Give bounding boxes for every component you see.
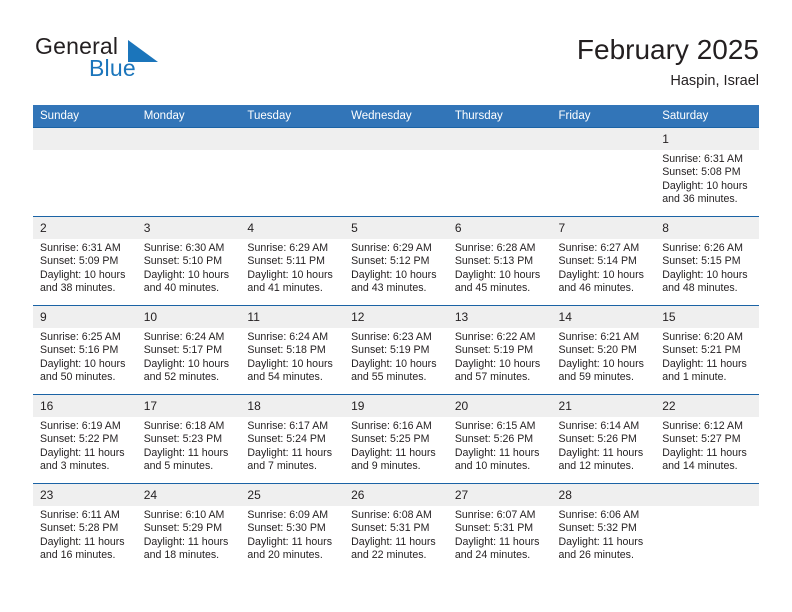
daylight-text-line2: and 24 minutes.: [455, 549, 546, 562]
day-details: Sunrise: 6:23 AMSunset: 5:19 PMDaylight:…: [344, 328, 448, 385]
daylight-text-line1: Daylight: 11 hours: [455, 536, 546, 549]
daylight-text-line1: Daylight: 10 hours: [662, 180, 753, 193]
sunset-text: Sunset: 5:19 PM: [455, 344, 546, 357]
day-number: 9: [33, 306, 137, 328]
daylight-text-line2: and 38 minutes.: [40, 282, 131, 295]
logo-text-blue: Blue: [89, 55, 136, 82]
day-number: 28: [552, 484, 656, 506]
sunrise-text: Sunrise: 6:29 AM: [247, 242, 338, 255]
daylight-text-line2: and 43 minutes.: [351, 282, 442, 295]
sunrise-text: Sunrise: 6:07 AM: [455, 509, 546, 522]
sunset-text: Sunset: 5:26 PM: [559, 433, 650, 446]
day-details: Sunrise: 6:24 AMSunset: 5:18 PMDaylight:…: [240, 328, 344, 385]
day-details: Sunrise: 6:06 AMSunset: 5:32 PMDaylight:…: [552, 506, 656, 563]
sunset-text: Sunset: 5:26 PM: [455, 433, 546, 446]
daylight-text-line2: and 45 minutes.: [455, 282, 546, 295]
day-details: Sunrise: 6:28 AMSunset: 5:13 PMDaylight:…: [448, 239, 552, 296]
calendar-cell-empty: [655, 484, 759, 573]
daylight-text-line2: and 22 minutes.: [351, 549, 442, 562]
sunrise-text: Sunrise: 6:11 AM: [40, 509, 131, 522]
sunrise-text: Sunrise: 6:10 AM: [144, 509, 235, 522]
day-number: 8: [655, 217, 759, 239]
day-details: Sunrise: 6:30 AMSunset: 5:10 PMDaylight:…: [137, 239, 241, 296]
calendar-week-row: 16Sunrise: 6:19 AMSunset: 5:22 PMDayligh…: [33, 395, 759, 484]
daylight-text-line2: and 41 minutes.: [247, 282, 338, 295]
day-details: Sunrise: 6:26 AMSunset: 5:15 PMDaylight:…: [655, 239, 759, 296]
day-number: 10: [137, 306, 241, 328]
daylight-text-line1: Daylight: 11 hours: [247, 536, 338, 549]
sunset-text: Sunset: 5:19 PM: [351, 344, 442, 357]
sunset-text: Sunset: 5:18 PM: [247, 344, 338, 357]
daylight-text-line2: and 7 minutes.: [247, 460, 338, 473]
daylight-text-line1: Daylight: 11 hours: [662, 358, 753, 371]
title-block: February 2025 Haspin, Israel: [577, 33, 759, 91]
sunset-text: Sunset: 5:22 PM: [40, 433, 131, 446]
sunset-text: Sunset: 5:21 PM: [662, 344, 753, 357]
calendar-day-cell[interactable]: 20Sunrise: 6:15 AMSunset: 5:26 PMDayligh…: [448, 395, 552, 484]
day-details: Sunrise: 6:09 AMSunset: 5:30 PMDaylight:…: [240, 506, 344, 563]
sunset-text: Sunset: 5:13 PM: [455, 255, 546, 268]
daylight-text-line1: Daylight: 11 hours: [559, 536, 650, 549]
calendar-day-cell[interactable]: 25Sunrise: 6:09 AMSunset: 5:30 PMDayligh…: [240, 484, 344, 573]
day-details: Sunrise: 6:22 AMSunset: 5:19 PMDaylight:…: [448, 328, 552, 385]
sunset-text: Sunset: 5:31 PM: [351, 522, 442, 535]
sunrise-text: Sunrise: 6:19 AM: [40, 420, 131, 433]
calendar-day-cell[interactable]: 17Sunrise: 6:18 AMSunset: 5:23 PMDayligh…: [137, 395, 241, 484]
day-number: 6: [448, 217, 552, 239]
daylight-text-line1: Daylight: 10 hours: [40, 358, 131, 371]
calendar-week-row: 23Sunrise: 6:11 AMSunset: 5:28 PMDayligh…: [33, 484, 759, 573]
calendar-cell-empty: [137, 128, 241, 217]
day-number: 11: [240, 306, 344, 328]
day-number: 15: [655, 306, 759, 328]
day-number: 21: [552, 395, 656, 417]
calendar-day-cell[interactable]: 12Sunrise: 6:23 AMSunset: 5:19 PMDayligh…: [344, 306, 448, 395]
calendar-day-cell[interactable]: 3Sunrise: 6:30 AMSunset: 5:10 PMDaylight…: [137, 217, 241, 306]
day-details: Sunrise: 6:29 AMSunset: 5:12 PMDaylight:…: [344, 239, 448, 296]
calendar-table: Sunday Monday Tuesday Wednesday Thursday…: [33, 105, 759, 572]
day-number: 19: [344, 395, 448, 417]
calendar-day-cell[interactable]: 22Sunrise: 6:12 AMSunset: 5:27 PMDayligh…: [655, 395, 759, 484]
daylight-text-line2: and 46 minutes.: [559, 282, 650, 295]
day-number: [552, 128, 656, 150]
calendar-day-cell[interactable]: 27Sunrise: 6:07 AMSunset: 5:31 PMDayligh…: [448, 484, 552, 573]
calendar-day-cell[interactable]: 2Sunrise: 6:31 AMSunset: 5:09 PMDaylight…: [33, 217, 137, 306]
daylight-text-line1: Daylight: 11 hours: [144, 536, 235, 549]
day-details: Sunrise: 6:29 AMSunset: 5:11 PMDaylight:…: [240, 239, 344, 296]
sunset-text: Sunset: 5:32 PM: [559, 522, 650, 535]
calendar-day-cell[interactable]: 8Sunrise: 6:26 AMSunset: 5:15 PMDaylight…: [655, 217, 759, 306]
calendar-cell-empty: [448, 128, 552, 217]
day-details: Sunrise: 6:08 AMSunset: 5:31 PMDaylight:…: [344, 506, 448, 563]
calendar-week-row: 1Sunrise: 6:31 AMSunset: 5:08 PMDaylight…: [33, 128, 759, 217]
calendar-day-cell[interactable]: 6Sunrise: 6:28 AMSunset: 5:13 PMDaylight…: [448, 217, 552, 306]
day-details: Sunrise: 6:07 AMSunset: 5:31 PMDaylight:…: [448, 506, 552, 563]
calendar-day-cell[interactable]: 13Sunrise: 6:22 AMSunset: 5:19 PMDayligh…: [448, 306, 552, 395]
calendar-day-cell[interactable]: 9Sunrise: 6:25 AMSunset: 5:16 PMDaylight…: [33, 306, 137, 395]
daylight-text-line2: and 16 minutes.: [40, 549, 131, 562]
daylight-text-line1: Daylight: 10 hours: [144, 269, 235, 282]
daylight-text-line2: and 36 minutes.: [662, 193, 753, 206]
day-number: [448, 128, 552, 150]
day-number: [137, 128, 241, 150]
daylight-text-line1: Daylight: 10 hours: [247, 358, 338, 371]
calendar-header-row: Sunday Monday Tuesday Wednesday Thursday…: [33, 105, 759, 128]
day-details: Sunrise: 6:18 AMSunset: 5:23 PMDaylight:…: [137, 417, 241, 474]
day-number: 20: [448, 395, 552, 417]
day-details: Sunrise: 6:21 AMSunset: 5:20 PMDaylight:…: [552, 328, 656, 385]
sunset-text: Sunset: 5:16 PM: [40, 344, 131, 357]
day-details: Sunrise: 6:12 AMSunset: 5:27 PMDaylight:…: [655, 417, 759, 474]
calendar-page: General Blue February 2025 Haspin, Israe…: [0, 0, 792, 612]
day-number: 17: [137, 395, 241, 417]
daylight-text-line2: and 57 minutes.: [455, 371, 546, 384]
day-details: Sunrise: 6:27 AMSunset: 5:14 PMDaylight:…: [552, 239, 656, 296]
daylight-text-line2: and 48 minutes.: [662, 282, 753, 295]
sunset-text: Sunset: 5:08 PM: [662, 166, 753, 179]
page-title: February 2025: [577, 33, 759, 67]
day-number: 2: [33, 217, 137, 239]
calendar-day-cell[interactable]: 11Sunrise: 6:24 AMSunset: 5:18 PMDayligh…: [240, 306, 344, 395]
daylight-text-line2: and 50 minutes.: [40, 371, 131, 384]
daylight-text-line1: Daylight: 10 hours: [662, 269, 753, 282]
daylight-text-line1: Daylight: 10 hours: [559, 269, 650, 282]
sunrise-text: Sunrise: 6:24 AM: [247, 331, 338, 344]
calendar-day-cell[interactable]: 19Sunrise: 6:16 AMSunset: 5:25 PMDayligh…: [344, 395, 448, 484]
day-number: 1: [655, 128, 759, 150]
day-details: Sunrise: 6:24 AMSunset: 5:17 PMDaylight:…: [137, 328, 241, 385]
sunrise-text: Sunrise: 6:06 AM: [559, 509, 650, 522]
sunrise-text: Sunrise: 6:26 AM: [662, 242, 753, 255]
calendar-cell-empty: [33, 128, 137, 217]
daylight-text-line1: Daylight: 10 hours: [455, 269, 546, 282]
weekday-header-sunday: Sunday: [33, 105, 137, 128]
general-blue-logo[interactable]: General Blue: [33, 33, 233, 89]
daylight-text-line1: Daylight: 11 hours: [455, 447, 546, 460]
sunset-text: Sunset: 5:14 PM: [559, 255, 650, 268]
daylight-text-line1: Daylight: 10 hours: [247, 269, 338, 282]
sunrise-text: Sunrise: 6:30 AM: [144, 242, 235, 255]
sunrise-text: Sunrise: 6:20 AM: [662, 331, 753, 344]
calendar-day-cell[interactable]: 24Sunrise: 6:10 AMSunset: 5:29 PMDayligh…: [137, 484, 241, 573]
sunrise-text: Sunrise: 6:15 AM: [455, 420, 546, 433]
day-number: 22: [655, 395, 759, 417]
day-number: 3: [137, 217, 241, 239]
daylight-text-line1: Daylight: 11 hours: [662, 447, 753, 460]
daylight-text-line1: Daylight: 11 hours: [351, 447, 442, 460]
daylight-text-line1: Daylight: 11 hours: [351, 536, 442, 549]
day-number: 18: [240, 395, 344, 417]
sunset-text: Sunset: 5:20 PM: [559, 344, 650, 357]
day-number: 5: [344, 217, 448, 239]
weekday-header-row: Sunday Monday Tuesday Wednesday Thursday…: [33, 105, 759, 128]
location-subtitle: Haspin, Israel: [577, 71, 759, 91]
daylight-text-line2: and 26 minutes.: [559, 549, 650, 562]
calendar-body: 1Sunrise: 6:31 AMSunset: 5:08 PMDaylight…: [33, 128, 759, 573]
day-number: 25: [240, 484, 344, 506]
calendar-day-cell[interactable]: 26Sunrise: 6:08 AMSunset: 5:31 PMDayligh…: [344, 484, 448, 573]
calendar-day-cell[interactable]: 28Sunrise: 6:06 AMSunset: 5:32 PMDayligh…: [552, 484, 656, 573]
day-details: Sunrise: 6:10 AMSunset: 5:29 PMDaylight:…: [137, 506, 241, 563]
day-details: Sunrise: 6:15 AMSunset: 5:26 PMDaylight:…: [448, 417, 552, 474]
daylight-text-line2: and 14 minutes.: [662, 460, 753, 473]
calendar-cell-empty: [240, 128, 344, 217]
day-number: [344, 128, 448, 150]
calendar-day-cell[interactable]: 23Sunrise: 6:11 AMSunset: 5:28 PMDayligh…: [33, 484, 137, 573]
sunrise-text: Sunrise: 6:17 AM: [247, 420, 338, 433]
sunset-text: Sunset: 5:29 PM: [144, 522, 235, 535]
sunset-text: Sunset: 5:24 PM: [247, 433, 338, 446]
weekday-header-friday: Friday: [552, 105, 656, 128]
daylight-text-line2: and 10 minutes.: [455, 460, 546, 473]
page-header: General Blue February 2025 Haspin, Israe…: [33, 33, 759, 95]
sunrise-text: Sunrise: 6:31 AM: [662, 153, 753, 166]
day-details: Sunrise: 6:25 AMSunset: 5:16 PMDaylight:…: [33, 328, 137, 385]
sunset-text: Sunset: 5:10 PM: [144, 255, 235, 268]
calendar-day-cell[interactable]: 15Sunrise: 6:20 AMSunset: 5:21 PMDayligh…: [655, 306, 759, 395]
daylight-text-line1: Daylight: 11 hours: [40, 536, 131, 549]
day-details: Sunrise: 6:31 AMSunset: 5:09 PMDaylight:…: [33, 239, 137, 296]
weekday-header-tuesday: Tuesday: [240, 105, 344, 128]
day-number: 23: [33, 484, 137, 506]
sunrise-text: Sunrise: 6:12 AM: [662, 420, 753, 433]
calendar-week-row: 9Sunrise: 6:25 AMSunset: 5:16 PMDaylight…: [33, 306, 759, 395]
sunset-text: Sunset: 5:25 PM: [351, 433, 442, 446]
daylight-text-line1: Daylight: 10 hours: [559, 358, 650, 371]
day-number: 24: [137, 484, 241, 506]
calendar-week-row: 2Sunrise: 6:31 AMSunset: 5:09 PMDaylight…: [33, 217, 759, 306]
calendar-cell-empty: [552, 128, 656, 217]
day-number: 13: [448, 306, 552, 328]
daylight-text-line2: and 59 minutes.: [559, 371, 650, 384]
daylight-text-line2: and 1 minute.: [662, 371, 753, 384]
day-details: Sunrise: 6:16 AMSunset: 5:25 PMDaylight:…: [344, 417, 448, 474]
daylight-text-line2: and 54 minutes.: [247, 371, 338, 384]
daylight-text-line1: Daylight: 11 hours: [247, 447, 338, 460]
sunset-text: Sunset: 5:11 PM: [247, 255, 338, 268]
daylight-text-line1: Daylight: 11 hours: [144, 447, 235, 460]
calendar-day-cell[interactable]: 14Sunrise: 6:21 AMSunset: 5:20 PMDayligh…: [552, 306, 656, 395]
day-number: 16: [33, 395, 137, 417]
daylight-text-line1: Daylight: 11 hours: [40, 447, 131, 460]
daylight-text-line2: and 55 minutes.: [351, 371, 442, 384]
sunrise-text: Sunrise: 6:09 AM: [247, 509, 338, 522]
calendar-day-cell[interactable]: 16Sunrise: 6:19 AMSunset: 5:22 PMDayligh…: [33, 395, 137, 484]
weekday-header-wednesday: Wednesday: [344, 105, 448, 128]
calendar-cell-empty: [344, 128, 448, 217]
day-details: Sunrise: 6:20 AMSunset: 5:21 PMDaylight:…: [655, 328, 759, 385]
daylight-text-line2: and 40 minutes.: [144, 282, 235, 295]
daylight-text-line1: Daylight: 11 hours: [559, 447, 650, 460]
day-details: Sunrise: 6:31 AMSunset: 5:08 PMDaylight:…: [655, 150, 759, 207]
calendar-day-cell[interactable]: 10Sunrise: 6:24 AMSunset: 5:17 PMDayligh…: [137, 306, 241, 395]
day-number: [240, 128, 344, 150]
sunrise-text: Sunrise: 6:31 AM: [40, 242, 131, 255]
sunset-text: Sunset: 5:17 PM: [144, 344, 235, 357]
weekday-header-saturday: Saturday: [655, 105, 759, 128]
calendar-day-cell[interactable]: 4Sunrise: 6:29 AMSunset: 5:11 PMDaylight…: [240, 217, 344, 306]
sunrise-text: Sunrise: 6:22 AM: [455, 331, 546, 344]
sunrise-text: Sunrise: 6:25 AM: [40, 331, 131, 344]
day-number: 4: [240, 217, 344, 239]
day-number: 14: [552, 306, 656, 328]
sunrise-text: Sunrise: 6:29 AM: [351, 242, 442, 255]
day-details: Sunrise: 6:14 AMSunset: 5:26 PMDaylight:…: [552, 417, 656, 474]
sunrise-text: Sunrise: 6:28 AM: [455, 242, 546, 255]
daylight-text-line1: Daylight: 10 hours: [144, 358, 235, 371]
calendar-day-cell[interactable]: 7Sunrise: 6:27 AMSunset: 5:14 PMDaylight…: [552, 217, 656, 306]
day-number: 27: [448, 484, 552, 506]
weekday-header-thursday: Thursday: [448, 105, 552, 128]
daylight-text-line1: Daylight: 10 hours: [40, 269, 131, 282]
sunset-text: Sunset: 5:12 PM: [351, 255, 442, 268]
sunset-text: Sunset: 5:15 PM: [662, 255, 753, 268]
calendar-day-cell[interactable]: 18Sunrise: 6:17 AMSunset: 5:24 PMDayligh…: [240, 395, 344, 484]
day-number: 26: [344, 484, 448, 506]
sunset-text: Sunset: 5:31 PM: [455, 522, 546, 535]
sunset-text: Sunset: 5:27 PM: [662, 433, 753, 446]
calendar-day-cell[interactable]: 21Sunrise: 6:14 AMSunset: 5:26 PMDayligh…: [552, 395, 656, 484]
sunrise-text: Sunrise: 6:08 AM: [351, 509, 442, 522]
sunset-text: Sunset: 5:23 PM: [144, 433, 235, 446]
sunrise-text: Sunrise: 6:18 AM: [144, 420, 235, 433]
calendar-day-cell[interactable]: 5Sunrise: 6:29 AMSunset: 5:12 PMDaylight…: [344, 217, 448, 306]
daylight-text-line2: and 20 minutes.: [247, 549, 338, 562]
sunrise-text: Sunrise: 6:16 AM: [351, 420, 442, 433]
sunset-text: Sunset: 5:30 PM: [247, 522, 338, 535]
day-number: [33, 128, 137, 150]
day-details: Sunrise: 6:17 AMSunset: 5:24 PMDaylight:…: [240, 417, 344, 474]
daylight-text-line2: and 5 minutes.: [144, 460, 235, 473]
calendar-day-cell[interactable]: 1Sunrise: 6:31 AMSunset: 5:08 PMDaylight…: [655, 128, 759, 217]
daylight-text-line2: and 9 minutes.: [351, 460, 442, 473]
sunrise-text: Sunrise: 6:23 AM: [351, 331, 442, 344]
daylight-text-line2: and 52 minutes.: [144, 371, 235, 384]
daylight-text-line1: Daylight: 10 hours: [455, 358, 546, 371]
sunrise-text: Sunrise: 6:21 AM: [559, 331, 650, 344]
weekday-header-monday: Monday: [137, 105, 241, 128]
day-number: 12: [344, 306, 448, 328]
daylight-text-line1: Daylight: 10 hours: [351, 269, 442, 282]
sunrise-text: Sunrise: 6:24 AM: [144, 331, 235, 344]
day-details: Sunrise: 6:11 AMSunset: 5:28 PMDaylight:…: [33, 506, 137, 563]
sunrise-text: Sunrise: 6:27 AM: [559, 242, 650, 255]
day-details: Sunrise: 6:19 AMSunset: 5:22 PMDaylight:…: [33, 417, 137, 474]
sunset-text: Sunset: 5:28 PM: [40, 522, 131, 535]
daylight-text-line2: and 18 minutes.: [144, 549, 235, 562]
daylight-text-line2: and 12 minutes.: [559, 460, 650, 473]
day-number: [655, 484, 759, 506]
sunset-text: Sunset: 5:09 PM: [40, 255, 131, 268]
daylight-text-line1: Daylight: 10 hours: [351, 358, 442, 371]
daylight-text-line2: and 3 minutes.: [40, 460, 131, 473]
day-number: 7: [552, 217, 656, 239]
sunrise-text: Sunrise: 6:14 AM: [559, 420, 650, 433]
